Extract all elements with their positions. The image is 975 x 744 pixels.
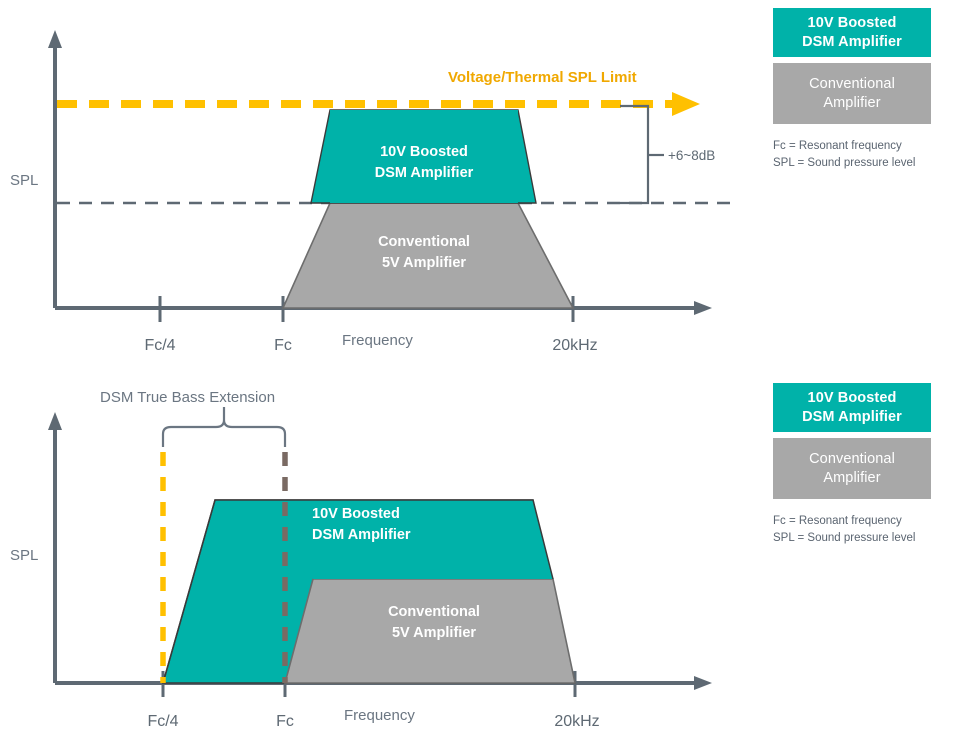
legend-bottom-conventional-chip: Conventional Amplifier: [773, 438, 931, 499]
legend-bottom: 10V Boosted DSM Amplifier Conventional A…: [773, 383, 945, 547]
legend-top-dsm-line2: DSM Amplifier: [777, 33, 927, 52]
legend-top-note-line2: SPL = Sound pressure level: [773, 155, 945, 172]
top-gain-bracket: [620, 106, 664, 203]
top-tick-label-fc4: Fc/4: [144, 337, 175, 354]
top-y-axis: [48, 30, 62, 308]
bottom-tick-label-fc4: Fc/4: [147, 713, 178, 730]
bottom-dsm-band-label-line2: DSM Amplifier: [312, 527, 411, 543]
legend-top: 10V Boosted DSM Amplifier Conventional A…: [773, 8, 945, 172]
top-gain-label: +6~8dB: [668, 148, 715, 163]
legend-bottom-note: Fc = Resonant frequency SPL = Sound pres…: [773, 513, 945, 546]
bottom-tick-label-fc: Fc: [276, 713, 294, 730]
top-y-axis-label: SPL: [10, 172, 38, 189]
legend-bottom-dsm-chip: 10V Boosted DSM Amplifier: [773, 383, 931, 432]
legend-bottom-note-line1: Fc = Resonant frequency: [773, 513, 945, 530]
legend-bottom-dsm-line2: DSM Amplifier: [777, 408, 927, 427]
legend-top-dsm-chip: 10V Boosted DSM Amplifier: [773, 8, 931, 57]
top-tick-label-20khz: 20kHz: [552, 337, 597, 354]
legend-top-conventional-chip: Conventional Amplifier: [773, 63, 931, 124]
legend-top-note-line1: Fc = Resonant frequency: [773, 138, 945, 155]
legend-top-dsm-line1: 10V Boosted: [777, 14, 927, 33]
bottom-x-axis-label: Frequency: [344, 707, 415, 724]
top-spl-limit-label: Voltage/Thermal SPL Limit: [448, 69, 637, 86]
bottom-conventional-band-label-line1: Conventional: [388, 604, 480, 620]
legend-bottom-conventional-line1: Conventional: [777, 450, 927, 469]
bottom-tick-label-20khz: 20kHz: [554, 713, 599, 730]
bottom-y-axis-label: SPL: [10, 547, 38, 564]
top-dsm-band-label-line2: DSM Amplifier: [375, 165, 474, 181]
top-tick-label-fc: Fc: [274, 337, 292, 354]
top-conventional-band-label-line2: 5V Amplifier: [382, 255, 466, 271]
bottom-y-axis: [48, 412, 62, 683]
legend-bottom-note-line2: SPL = Sound pressure level: [773, 530, 945, 547]
bottom-conventional-band-label-line2: 5V Amplifier: [392, 625, 476, 641]
legend-top-conventional-line2: Amplifier: [777, 94, 927, 113]
top-chart: SPL Frequency Fc/4 Fc 20kHz Voltage/Ther…: [0, 0, 760, 372]
legend-top-note: Fc = Resonant frequency SPL = Sound pres…: [773, 138, 945, 171]
bottom-dsm-band-label-line1: 10V Boosted: [312, 506, 400, 522]
top-dsm-band-label-line1: 10V Boosted: [380, 144, 468, 160]
bottom-bass-extension-label: DSM True Bass Extension: [100, 389, 275, 406]
diagram-canvas: SPL Frequency Fc/4 Fc 20kHz Voltage/Ther…: [0, 0, 975, 744]
legend-bottom-dsm-line1: 10V Boosted: [777, 389, 927, 408]
legend-top-conventional-line1: Conventional: [777, 75, 927, 94]
top-x-axis-label: Frequency: [342, 332, 413, 349]
legend-bottom-conventional-line2: Amplifier: [777, 469, 927, 488]
top-conventional-band-label-line1: Conventional: [378, 234, 470, 250]
bottom-bass-extension-brace: [163, 407, 285, 447]
bottom-chart: DSM True Bass Extension SPL Frequency Fc…: [0, 372, 760, 744]
